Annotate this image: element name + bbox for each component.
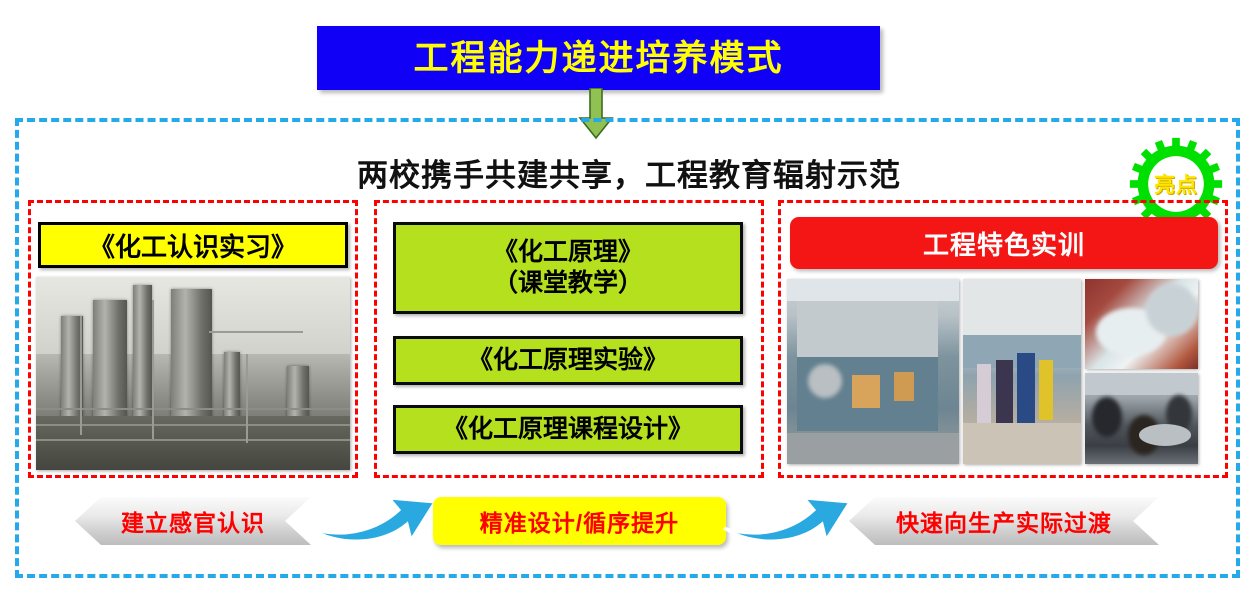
flow-step-2: 精准设计/循序提升 bbox=[433, 497, 726, 545]
subtitle: 两校携手共建共享，工程教育辐射示范 bbox=[0, 150, 1258, 195]
course-box-3: 《化工原理课程设计》 bbox=[393, 405, 743, 454]
students-operating-photo bbox=[963, 279, 1081, 464]
diagram-canvas: 工程能力递进培养模式 两校携手共建共享，工程教育辐射示范 bbox=[0, 0, 1258, 607]
students-tank-photo bbox=[1085, 373, 1198, 464]
training-equipment-photo bbox=[787, 279, 959, 464]
curved-right-arrow-icon-1 bbox=[307, 484, 442, 546]
right-training-label: 工程特色实训 bbox=[790, 217, 1218, 269]
page-title: 工程能力递进培养模式 bbox=[413, 41, 783, 76]
flow-step-1: 建立感官认识 bbox=[75, 497, 311, 545]
course-box-2: 《化工原理实验》 bbox=[393, 336, 743, 385]
page-title-banner: 工程能力递进培养模式 bbox=[317, 26, 880, 90]
chemical-plant-photo bbox=[36, 277, 350, 470]
reactor-foam-photo bbox=[1085, 279, 1198, 369]
course-box-1-line1: 《化工原理》 bbox=[493, 237, 643, 268]
course-box-2-line1: 《化工原理实验》 bbox=[468, 345, 668, 376]
course-box-1-line2: （课堂教学） bbox=[493, 268, 643, 299]
left-course-label: 《化工认识实习》 bbox=[38, 222, 348, 268]
flow-step-3: 快速向生产实际过渡 bbox=[849, 497, 1159, 545]
course-box-3-line1: 《化工原理课程设计》 bbox=[443, 414, 693, 445]
course-box-1: 《化工原理》 （课堂教学） bbox=[393, 222, 743, 314]
curved-right-arrow-icon-2 bbox=[722, 484, 857, 546]
